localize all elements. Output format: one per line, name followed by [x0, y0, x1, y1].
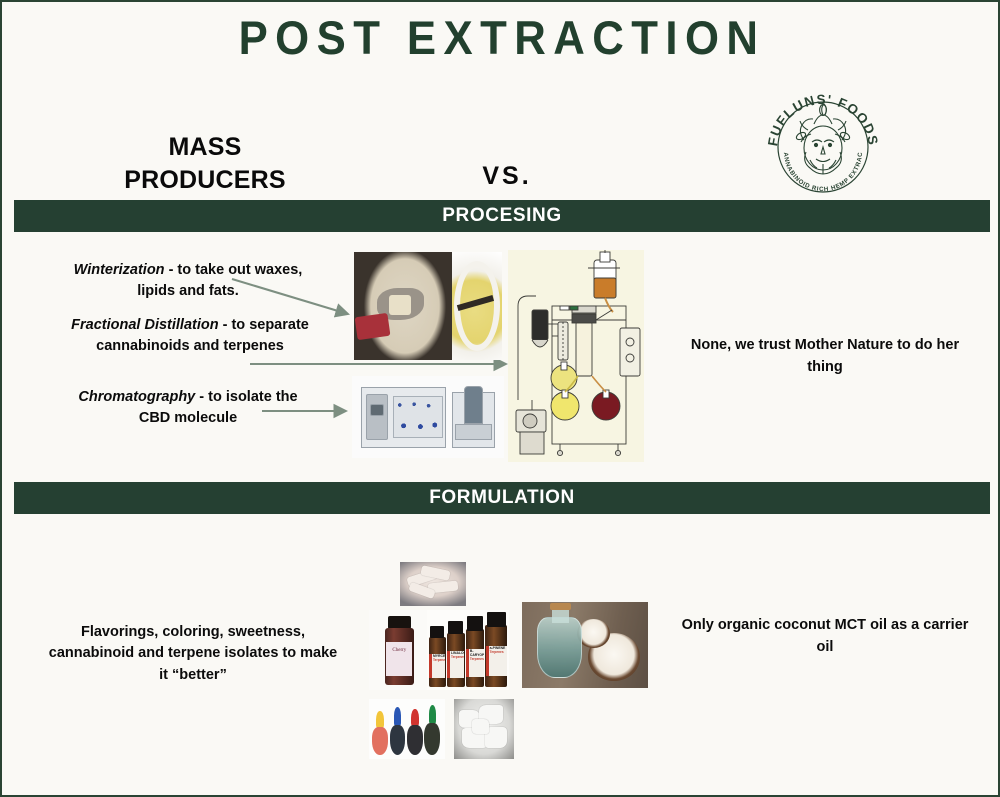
page-title: POST EXTRACTION: [37, 10, 967, 65]
dropper-tip: [429, 705, 437, 724]
cruet-cork: [550, 603, 571, 610]
sweetener-packets-photo: [400, 562, 466, 606]
terpene-bottles-photo: MYRCENE Terpenes LINALOOL Terpenes B-CAR…: [427, 610, 509, 690]
food-coloring-bottle-red: [407, 709, 423, 756]
dropper-bulb: [407, 725, 423, 755]
dropper-bulb: [390, 725, 406, 756]
dropper-tip: [394, 707, 402, 725]
terpene-bottle-label: B-CARYOPHYLLENE Terpenes: [466, 649, 484, 677]
terpene-bottle-label: a-PINENE Terpenes: [486, 646, 507, 676]
dropper-bulb: [424, 723, 440, 755]
dropper-tip: [411, 709, 419, 727]
processing-item-chromatography-term: Chromatography: [78, 389, 195, 405]
chromatography-display-screen: [370, 404, 384, 416]
winterization-photo: [354, 252, 502, 360]
processing-right-statement: None, we trust Mother Nature to do her t…: [680, 335, 970, 379]
section-heading-formulation: FORMULATION: [14, 482, 990, 514]
section-heading-processing: PROCESING: [14, 200, 990, 232]
short-path-distillation-diagram: [508, 250, 644, 462]
terpene-brand: Terpenes: [433, 659, 446, 663]
arrow-winterization-icon: [230, 274, 360, 322]
dropper-tip: [376, 711, 384, 728]
terpene-bottle-cap: [448, 621, 463, 634]
chromatography-column: [464, 386, 482, 424]
svg-text:FUFLUNS' FOODS: FUFLUNS' FOODS: [765, 92, 881, 147]
terpene-bottle-cap: [467, 616, 483, 630]
fufluns-foods-logo: FUFLUNS' FOODS CANNABINOID RICH HEMP EXT…: [764, 90, 882, 200]
formulation-right-statement: Only organic coconut MCT oil as a carrie…: [680, 615, 970, 659]
dropper-bulb: [372, 727, 388, 755]
red-spatula: [355, 312, 391, 339]
chromatography-column-base: [455, 424, 491, 440]
terpene-brand: Terpenes: [451, 656, 464, 660]
wax-chunk: [389, 295, 410, 314]
chromatography-control-panel: [366, 394, 389, 440]
arrow-chromatography-icon: [260, 402, 356, 420]
terpene-bottle-label: LINALOOL Terpenes: [447, 651, 464, 677]
mass-producers-line-2: PRODUCERS: [90, 164, 320, 197]
cbd-isolate-crystals-photo: [454, 699, 514, 759]
coconut-mct-oil-photo: [522, 602, 648, 688]
chromatography-equipment-photo: [352, 376, 504, 458]
food-coloring-bottles-photo: [369, 699, 445, 759]
terpene-bottle: LINALOOL Terpenes: [447, 621, 465, 687]
mass-producers-line-1: MASS: [90, 131, 320, 164]
terpene-bottle: B-CARYOPHYLLENE Terpenes: [466, 616, 485, 686]
isolate-crystal: [472, 719, 489, 733]
cherry-label-text: Cherry: [386, 648, 412, 653]
winterization-plate-panel: [354, 252, 452, 360]
terpene-bottle: a-PINENE Terpenes: [485, 612, 507, 687]
food-coloring-bottle-green: [424, 705, 440, 755]
food-coloring-bottle-yellow: [372, 711, 388, 755]
column-label-mass-producers: MASS PRODUCERS: [90, 131, 320, 196]
food-coloring-bottle-blue: [390, 707, 406, 755]
terpene-bottle-label: MYRCENE Terpenes: [429, 654, 446, 678]
chromatography-valve-manifold: [393, 396, 443, 439]
logo-top-arc-text: FUFLUNS' FOODS: [765, 92, 881, 147]
oil-cruet: [537, 617, 582, 677]
terpene-bottle: MYRCENE Terpenes: [429, 626, 446, 687]
formulation-left-statement: Flavorings, coloring, sweetness, cannabi…: [48, 622, 338, 686]
versus-label: VS.: [422, 162, 592, 191]
terpene-bottle-cap: [430, 626, 444, 638]
terpene-bottle-cap: [487, 612, 506, 627]
terpene-brand: Terpenes: [490, 651, 507, 655]
winterization-bowl-panel: [452, 252, 502, 360]
terpene-name: B-CARYOPHYLLENE: [470, 649, 484, 657]
bottle-label: Cherry: [386, 642, 412, 676]
processing-item-winterization-term: Winterization: [74, 262, 165, 278]
cherry-flavoring-bottle-photo: Cherry: [369, 610, 431, 690]
processing-item-fractional-distillation-term: Fractional Distillation: [71, 317, 218, 333]
infographic-page: POST EXTRACTION MASS PRODUCERS VS.: [0, 0, 1000, 797]
terpene-brand: Terpenes: [470, 658, 484, 662]
